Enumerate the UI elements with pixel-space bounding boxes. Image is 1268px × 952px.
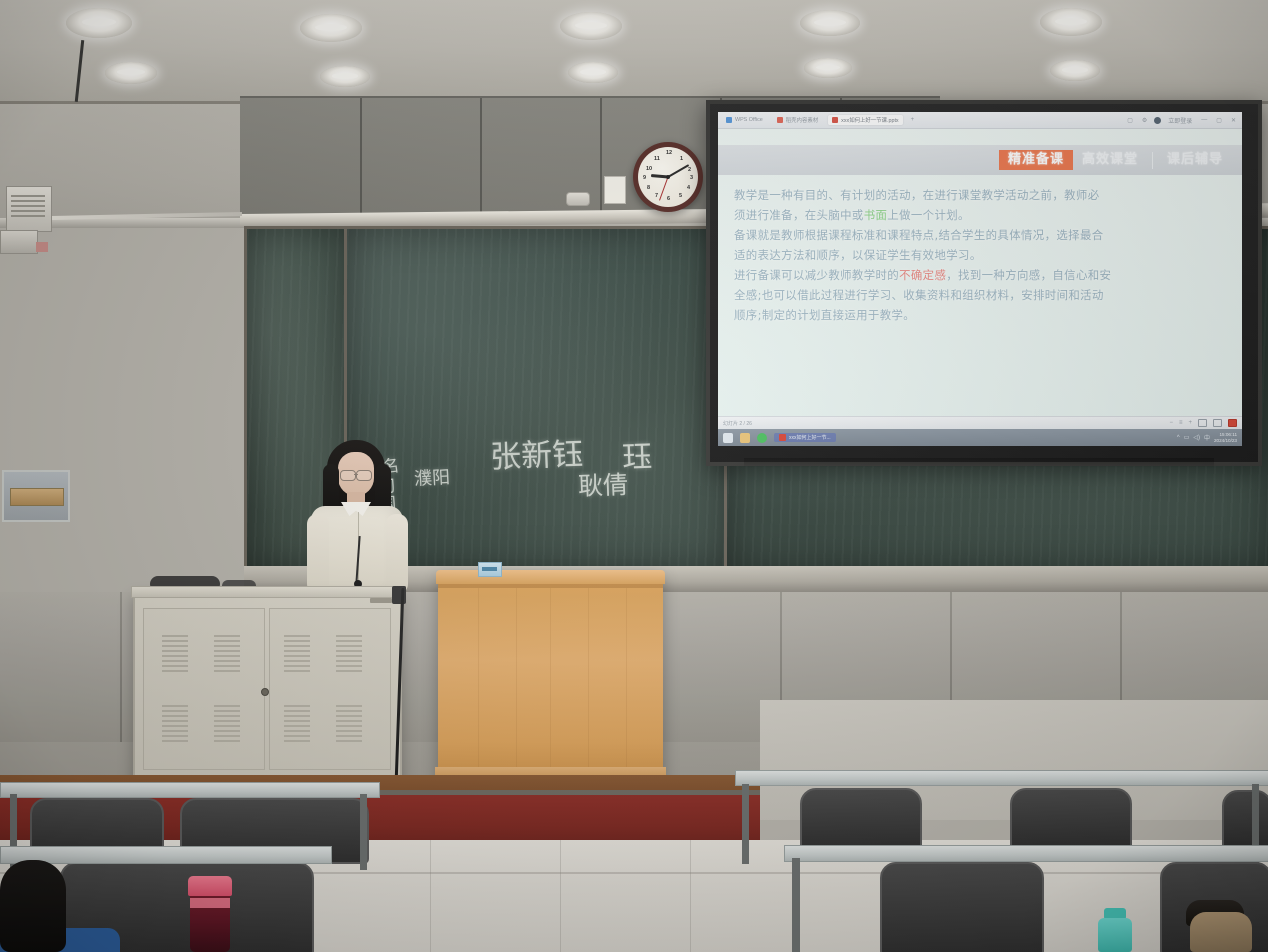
- slide-text-line: 教学是一种有目的、有计划的活动，在进行课堂教学活动之前，教师必: [734, 185, 1230, 205]
- slide-text: ，找到一种方向感，自信心和安: [946, 268, 1111, 282]
- slide-text-line: 顺序;制定的计划直接运用于教学。: [734, 305, 1230, 325]
- slide-tab-after-class: 课后辅导: [1158, 150, 1232, 170]
- chair-back: [1222, 790, 1268, 850]
- slide-text-line: 全感;也可以借此过程进行学习、收集资料和组织材料，安排时间和活动: [734, 285, 1230, 305]
- desk-leg: [360, 794, 367, 870]
- equipment-cabinet[interactable]: [133, 592, 402, 786]
- close-button[interactable]: ✕: [1229, 117, 1238, 124]
- snapshot-icon[interactable]: ▢: [1125, 117, 1135, 124]
- volume-icon[interactable]: ◁): [1193, 434, 1200, 441]
- chair-back: [800, 788, 922, 850]
- wps-docer-tab-label: 稻壳内容素材: [786, 116, 818, 124]
- wps-document-tab-label: xxx如何上好一节课.pptx: [841, 116, 899, 124]
- podium: [438, 570, 663, 785]
- settings-icon[interactable]: ⚙: [1140, 117, 1149, 124]
- slide-tab-efficient-class: 高效课堂: [1073, 150, 1147, 170]
- taskbar-date: 2024/10/23: [1214, 438, 1237, 444]
- windows-taskbar[interactable]: xxx如何上好一节... ^ ▭ ◁) 中 15:06:11 2024/10/2…: [718, 429, 1242, 446]
- wps-document-tab[interactable]: xxx如何上好一节课.pptx: [828, 115, 903, 125]
- desk-top: [0, 846, 332, 864]
- sorter-view-icon[interactable]: [1213, 419, 1222, 427]
- taskbar-open-window[interactable]: xxx如何上好一节...: [774, 433, 836, 442]
- desk-top: [784, 845, 1268, 862]
- bottle-band: [190, 898, 230, 908]
- cabinet-badge: [370, 598, 392, 603]
- student-foreground-right: [1190, 912, 1252, 952]
- slide-text: 全感;也可以借此过程进行学习、收集资料和组织材料，安排时间和活动: [734, 288, 1104, 302]
- slide-canvas: 精准备课 高效课堂 课后辅导 教学是一种有目的、有计划的活动，在进行课堂教学活动…: [718, 129, 1242, 421]
- start-icon[interactable]: [723, 433, 733, 443]
- file-explorer-icon[interactable]: [740, 433, 750, 443]
- screen-shadow: [744, 458, 1214, 468]
- minimize-button[interactable]: —: [1199, 117, 1209, 123]
- docer-icon: [777, 117, 783, 123]
- ppt-status-bar: 幻灯片 2 / 26 − ≡ +: [718, 416, 1242, 429]
- slide-text: 须进行准备，在头脑中或: [734, 208, 864, 222]
- maximize-button[interactable]: ▢: [1214, 117, 1224, 124]
- cabinet-door-left[interactable]: [143, 608, 265, 770]
- chair-back: [880, 862, 1044, 952]
- wps-home-tab[interactable]: WPS Office: [722, 116, 767, 124]
- login-label[interactable]: 立即登录: [1166, 116, 1194, 125]
- input-method-icon[interactable]: 中: [1204, 433, 1210, 442]
- sleeve-left: [307, 514, 329, 594]
- powerpoint-icon: [832, 117, 838, 123]
- sleeve-right: [386, 514, 408, 594]
- wps-logo-icon: [726, 117, 732, 123]
- slide-text: 顺序;制定的计划直接运用于教学。: [734, 308, 915, 322]
- cabinet-door-right[interactable]: [269, 608, 391, 770]
- desk-top: [0, 782, 380, 798]
- presenter: [305, 440, 410, 595]
- zoom-slider[interactable]: ≡: [1179, 420, 1183, 426]
- wps-tab-bar[interactable]: WPS Office 稻壳内容素材 xxx如何上好一节课.pptx + ▢ ⚙ …: [718, 112, 1242, 129]
- glasses-bridge: [354, 474, 358, 475]
- slide-header-tabs: 精准备课 高效课堂 课后辅导: [718, 145, 1242, 175]
- slide-tab-precise-prep: 精准备课: [999, 150, 1073, 170]
- network-icon[interactable]: ▭: [1184, 434, 1190, 441]
- slide-text: 教学是一种有目的、有计划的活动，在进行课堂教学活动之前，教师必: [734, 188, 1100, 202]
- student-foreground-left: [0, 860, 66, 952]
- zoom-in-button[interactable]: +: [1188, 420, 1192, 426]
- desk-top: [735, 770, 1268, 786]
- new-tab-button[interactable]: +: [909, 117, 917, 123]
- slide-text-body: 教学是一种有目的、有计划的活动，在进行课堂教学活动之前，教师必须进行准备，在头脑…: [734, 185, 1230, 325]
- avatar[interactable]: [1154, 117, 1161, 124]
- taskbar-window-label: xxx如何上好一节...: [789, 434, 831, 441]
- slide-text-line: 须进行准备，在头脑中或书面上做一个计划。: [734, 205, 1230, 225]
- teal-water-bottle: [1098, 918, 1132, 952]
- normal-view-icon[interactable]: [1198, 419, 1207, 427]
- cabinet-lock-icon[interactable]: [261, 688, 269, 696]
- blue-box-on-podium: [478, 562, 502, 577]
- glasses-icon: [356, 470, 372, 481]
- wps-home-tab-label: WPS Office: [735, 117, 763, 123]
- bottle-cap: [188, 876, 232, 896]
- slide-text-highlight: 不确定感: [899, 268, 946, 282]
- slide-text: 备课就是教师根据课程标准和课程特点,结合学生的具体情况，选择最合: [734, 228, 1104, 242]
- slide-text-line: 进行备课可以减少教师教学时的不确定感，找到一种方向感，自信心和安: [734, 265, 1230, 285]
- wps-docer-tab[interactable]: 稻壳内容素材: [773, 115, 822, 125]
- projection-screen: WPS Office 稻壳内容素材 xxx如何上好一节课.pptx + ▢ ⚙ …: [706, 100, 1262, 466]
- glasses-icon: [340, 470, 356, 481]
- slide-text: 上做一个计划。: [887, 208, 970, 222]
- taskbar-clock[interactable]: 15:06:11 2024/10/23: [1214, 432, 1237, 444]
- desk-leg: [792, 858, 800, 952]
- zoom-out-button[interactable]: −: [1169, 420, 1173, 426]
- slideshow-icon[interactable]: [1228, 419, 1237, 427]
- classroom-photo: 12 1 2 3 4 5 6 7 8 9 10 11 名初国濮阳张新钰珏耿倩: [0, 0, 1268, 952]
- slide-text-line: 备课就是教师根据课程标准和课程特点,结合学生的具体情况，选择最合: [734, 225, 1230, 245]
- chalk-note: 张新钰: [489, 428, 584, 476]
- desk-leg: [742, 784, 749, 864]
- powerpoint-icon: [779, 434, 786, 441]
- slide-text: 适的表达方法和顺序，以保证学生有效地学习。: [734, 248, 982, 262]
- slide-counter: 幻灯片 2 / 26: [723, 420, 752, 427]
- chair-back: [1010, 788, 1132, 850]
- chalk-note: 濮阳: [413, 463, 450, 491]
- wechat-icon[interactable]: [757, 433, 767, 443]
- chalk-note: 耿倩: [577, 465, 628, 503]
- chevron-up-icon[interactable]: ^: [1177, 435, 1180, 441]
- slide-text-highlight: 书面: [864, 208, 888, 222]
- slide-text-line: 适的表达方法和顺序，以保证学生有效地学习。: [734, 245, 1230, 265]
- slide-text: 进行备课可以减少教师教学时的: [734, 268, 899, 282]
